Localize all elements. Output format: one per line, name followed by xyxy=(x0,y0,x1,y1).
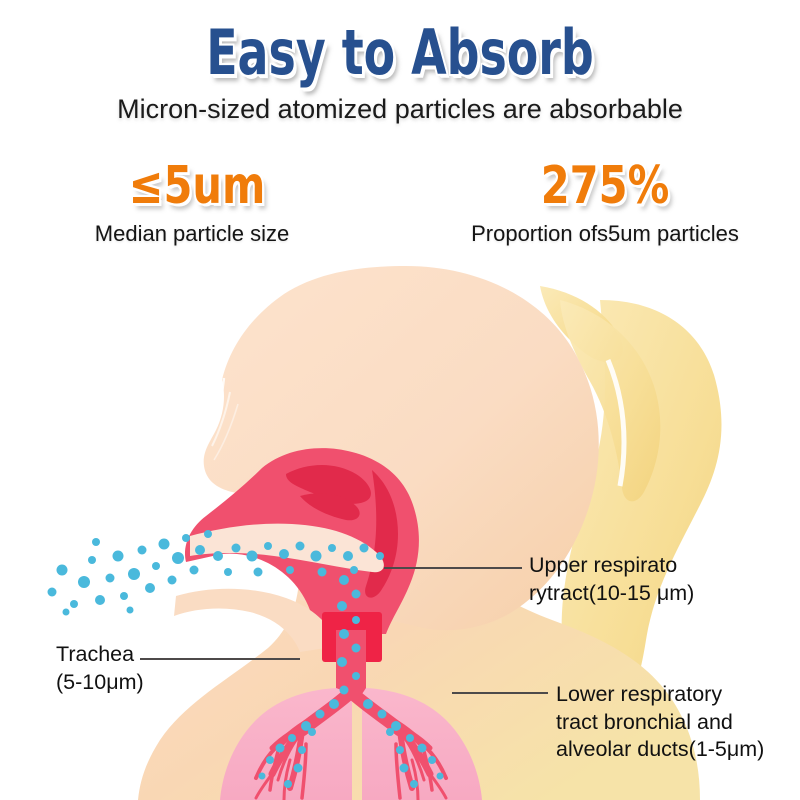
poster-root: Easy to Absorb Micron-sized atomized par… xyxy=(0,0,800,800)
stat-proportion-particles: 275% Proportion ofs5um particles xyxy=(400,160,800,247)
stats-row: ≤5um Median particle size 275% Proportio… xyxy=(0,160,800,247)
stat-median-particle-size: ≤5um Median particle size xyxy=(0,160,400,247)
header: Easy to Absorb Micron-sized atomized par… xyxy=(0,0,800,125)
stat-value-median-particle-size: ≤5um xyxy=(35,160,360,212)
callout-trachea: Trachea (5-10μm) xyxy=(56,641,144,696)
callout-lower-respiratory-tract: Lower respiratory tract bronchial and al… xyxy=(556,681,764,764)
page-subtitle: Micron-sized atomized particles are abso… xyxy=(0,84,800,125)
stat-label-proportion-particles: Proportion ofs5um particles xyxy=(410,212,800,247)
page-title: Easy to Absorb xyxy=(104,0,696,84)
stat-label-median-particle-size: Median particle size xyxy=(0,212,400,247)
stat-value-proportion-particles: 275% xyxy=(449,160,761,212)
callout-upper-respiratory-tract: Upper respirato rytract(10-15 μm) xyxy=(529,552,694,607)
